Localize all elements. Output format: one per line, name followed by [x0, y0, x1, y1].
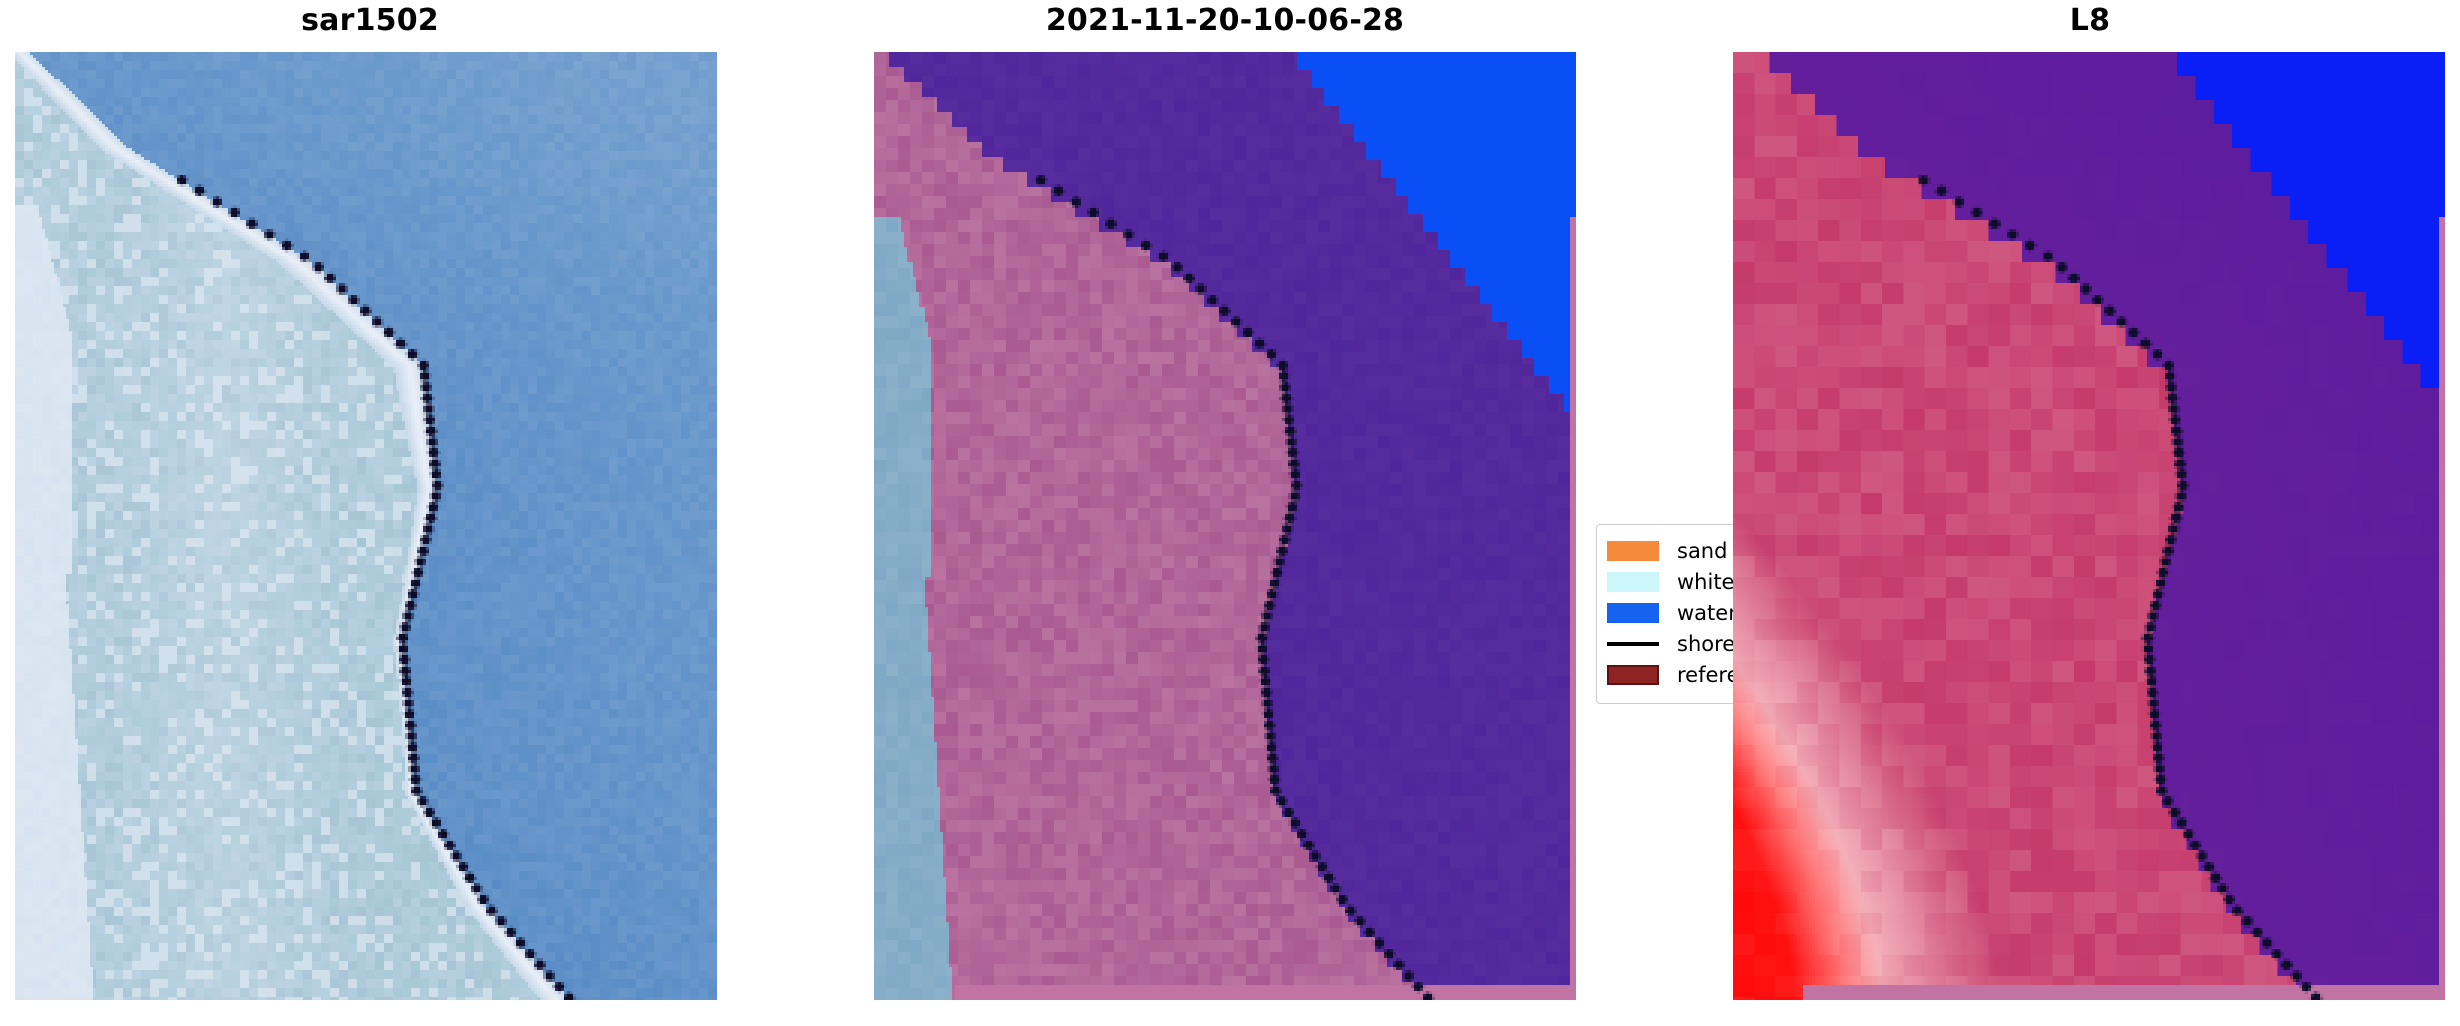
legend-label: shoreline	[1669, 632, 1733, 656]
legend-color-patch-icon	[1607, 603, 1659, 623]
legend-row-shoreline[interactable]: shoreline	[1607, 628, 1733, 659]
panel-title-l8: L8	[1700, 4, 2460, 38]
panel-title-timestamp: 2021-11-20-10-06-28	[840, 4, 1610, 38]
panel-sar1502: sar1502	[0, 0, 740, 1026]
legend-box: sandwhitewaterwatershorelinereference sh…	[1596, 524, 1733, 704]
figure-canvas: sar1502 2021-11-20-10-06-28 L8 sandwhite…	[0, 0, 2460, 1026]
image-axes-sar1502[interactable]	[15, 52, 717, 1000]
legend-line-icon	[1607, 642, 1659, 646]
legend[interactable]: sandwhitewaterwatershorelinereference sh…	[1596, 524, 1733, 704]
legend-row-whitewater[interactable]: whitewater	[1607, 566, 1733, 597]
legend-row-water[interactable]: water	[1607, 597, 1733, 628]
panel-title-sar1502: sar1502	[0, 4, 740, 38]
legend-label: water	[1669, 601, 1733, 625]
legend-swatch-wrap	[1607, 665, 1669, 685]
legend-label: reference shoreline	[1669, 663, 1733, 687]
classified-image-timestamp[interactable]	[874, 52, 1576, 1000]
legend-color-patch-icon	[1607, 572, 1659, 592]
legend-swatch-wrap	[1607, 541, 1669, 561]
legend-color-patch-icon	[1607, 665, 1659, 685]
satellite-image-sar1502[interactable]	[15, 52, 717, 1000]
legend-swatch-wrap	[1607, 572, 1669, 592]
panel-timestamp: 2021-11-20-10-06-28	[840, 0, 1610, 1026]
legend-row-reference[interactable]: reference shoreline	[1607, 659, 1733, 690]
legend-swatch-wrap	[1607, 642, 1669, 646]
panel-l8: L8	[1700, 0, 2460, 1026]
legend-swatch-wrap	[1607, 603, 1669, 623]
legend-label: whitewater	[1669, 570, 1733, 594]
legend-color-patch-icon	[1607, 541, 1659, 561]
legend-label: sand	[1669, 539, 1727, 563]
image-axes-timestamp[interactable]	[874, 52, 1576, 1000]
legend-row-sand[interactable]: sand	[1607, 535, 1733, 566]
image-axes-l8[interactable]	[1733, 52, 2445, 1000]
classified-image-l8[interactable]	[1733, 52, 2445, 1000]
